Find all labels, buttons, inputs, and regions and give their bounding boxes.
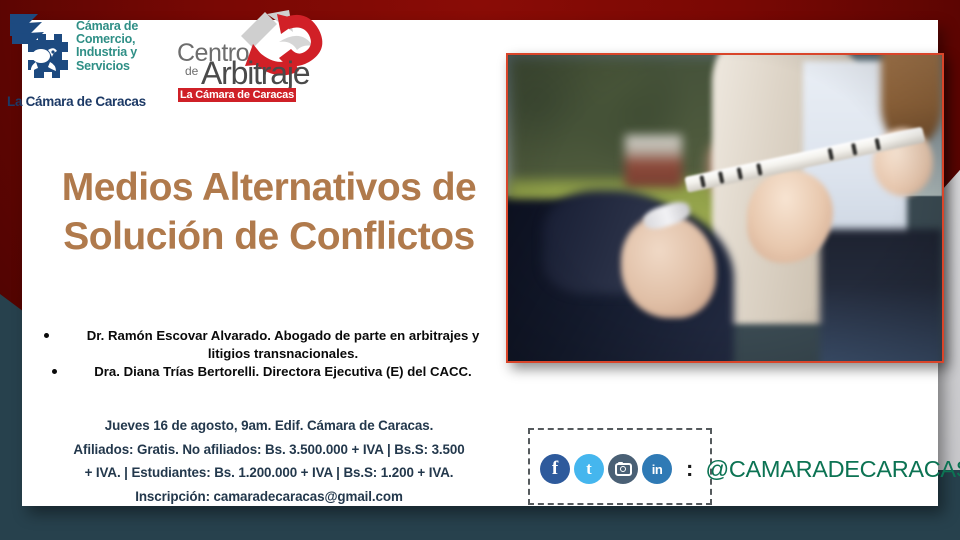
bullet-icon	[52, 369, 57, 374]
photo-content	[508, 55, 942, 361]
page-title: Medios Alternativos de Solución de Confl…	[30, 163, 508, 261]
arbitration-word-de: de	[185, 65, 198, 77]
event-registration-email: Inscripción: camaradecaracas@gmail.com	[28, 485, 510, 509]
camara-logo-line-4: Servicios	[76, 60, 172, 73]
arbitration-word-arbitraje: Arbitraje	[201, 57, 309, 89]
event-date-venue: Jueves 16 de agosto, 9am. Edif. Cámara d…	[28, 414, 510, 438]
camara-logo-subtitle: La Cámara de Caracas	[7, 94, 172, 109]
list-item: Dr. Ramón Escovar Alvarado. Abogado de p…	[30, 327, 508, 363]
facebook-icon[interactable]: f	[540, 454, 570, 484]
photo-vignette	[508, 55, 942, 361]
event-details: Jueves 16 de agosto, 9am. Edif. Cámara d…	[28, 414, 510, 508]
camara-logo-text: Cámara de Comercio, Industria y Servicio…	[76, 20, 172, 73]
camara-de-comercio-logo: Cámara de Comercio, Industria y Servicio…	[6, 10, 168, 110]
arbitration-tagline: La Cámara de Caracas	[178, 88, 296, 102]
presentation-slide: Cámara de Comercio, Industria y Servicio…	[0, 0, 960, 540]
tug-of-war-photo	[506, 53, 944, 363]
instagram-icon[interactable]	[608, 454, 638, 484]
winged-lion-emblem-icon	[8, 10, 74, 92]
speaker-text: Dra. Diana Trías Bertorelli. Directora E…	[94, 364, 471, 379]
list-item: Dra. Diana Trías Bertorelli. Directora E…	[30, 363, 508, 381]
instagram-camera-glyph	[615, 463, 632, 476]
centro-de-arbitraje-logo: Centro de Arbitraje La Cámara de Caracas	[169, 8, 329, 112]
logo-row: Cámara de Comercio, Industria y Servicio…	[6, 8, 336, 112]
social-separator: :	[686, 458, 693, 480]
speaker-text: Dr. Ramón Escovar Alvarado. Abogado de p…	[87, 328, 480, 361]
social-media-row: f t in : @CAMARADECARACAS	[540, 452, 960, 486]
camara-logo-line-3: Industria y	[76, 46, 172, 59]
twitter-icon[interactable]: t	[574, 454, 604, 484]
bullet-icon	[44, 333, 49, 338]
linkedin-icon[interactable]: in	[642, 454, 672, 484]
speakers-list: Dr. Ramón Escovar Alvarado. Abogado de p…	[30, 327, 508, 381]
event-pricing-line-1: Afiliados: Gratis. No afiliados: Bs. 3.5…	[28, 438, 510, 462]
social-handle: @CAMARADECARACAS	[705, 456, 960, 483]
event-pricing-line-2: + IVA. | Estudiantes: Bs. 1.200.000 + IV…	[28, 461, 510, 485]
